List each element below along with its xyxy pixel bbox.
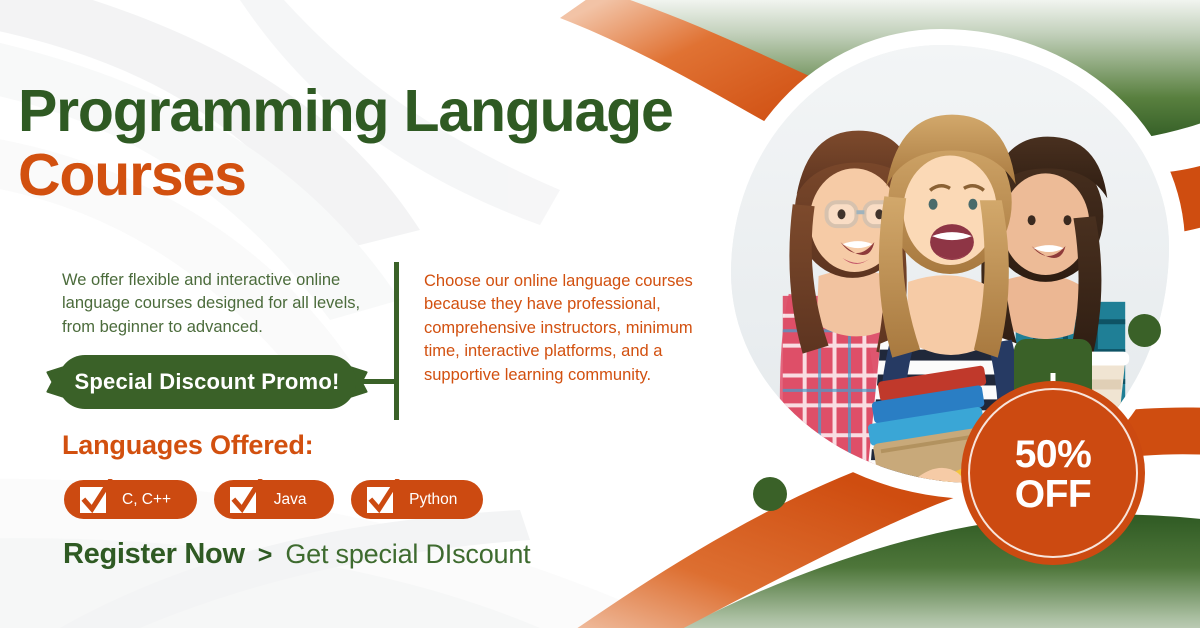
- language-pill-python[interactable]: Python: [351, 480, 483, 519]
- decorative-dot-left: [753, 477, 787, 511]
- promo-label: Special Discount Promo!: [58, 355, 356, 409]
- headline-line-2: Courses: [18, 146, 758, 204]
- languages-offered-title: Languages Offered:: [62, 430, 313, 461]
- register-now-link[interactable]: Register Now: [63, 538, 245, 571]
- language-pill-label: Java: [274, 491, 307, 509]
- intro-paragraph-right: Choose our online language courses becau…: [424, 270, 724, 387]
- language-pill-label: C, C++: [122, 491, 171, 509]
- vertical-divider: [394, 262, 399, 420]
- language-pill-list: C, C++ Java Python: [64, 480, 483, 519]
- language-pill-c-cpp[interactable]: C, C++: [64, 480, 197, 519]
- intro-paragraph-left: We offer flexible and interactive online…: [62, 269, 380, 339]
- discount-badge[interactable]: 50% OFF: [961, 381, 1145, 565]
- special-discount-promo-ribbon[interactable]: Special Discount Promo!: [44, 355, 370, 409]
- decorative-dot-right: [1128, 314, 1161, 347]
- badge-percent: 50%: [961, 435, 1145, 475]
- register-cta-row[interactable]: Register Now > Get special DIscount: [63, 538, 530, 571]
- badge-off: OFF: [961, 475, 1145, 515]
- language-pill-java[interactable]: Java: [214, 480, 334, 519]
- page-title: Programming Language Courses: [18, 82, 758, 205]
- checkbox-checked-icon: [77, 483, 107, 513]
- badge-text: 50% OFF: [961, 435, 1145, 515]
- checkbox-checked-icon: [227, 483, 257, 513]
- checkbox-checked-icon: [364, 483, 394, 513]
- chevron-right-icon: >: [258, 541, 273, 570]
- headline-line-1: Programming Language: [18, 82, 758, 140]
- get-special-discount-text: Get special DIscount: [285, 539, 530, 570]
- language-pill-label: Python: [409, 491, 457, 509]
- promo-banner: Programming Language Courses We offer fl…: [0, 0, 1200, 628]
